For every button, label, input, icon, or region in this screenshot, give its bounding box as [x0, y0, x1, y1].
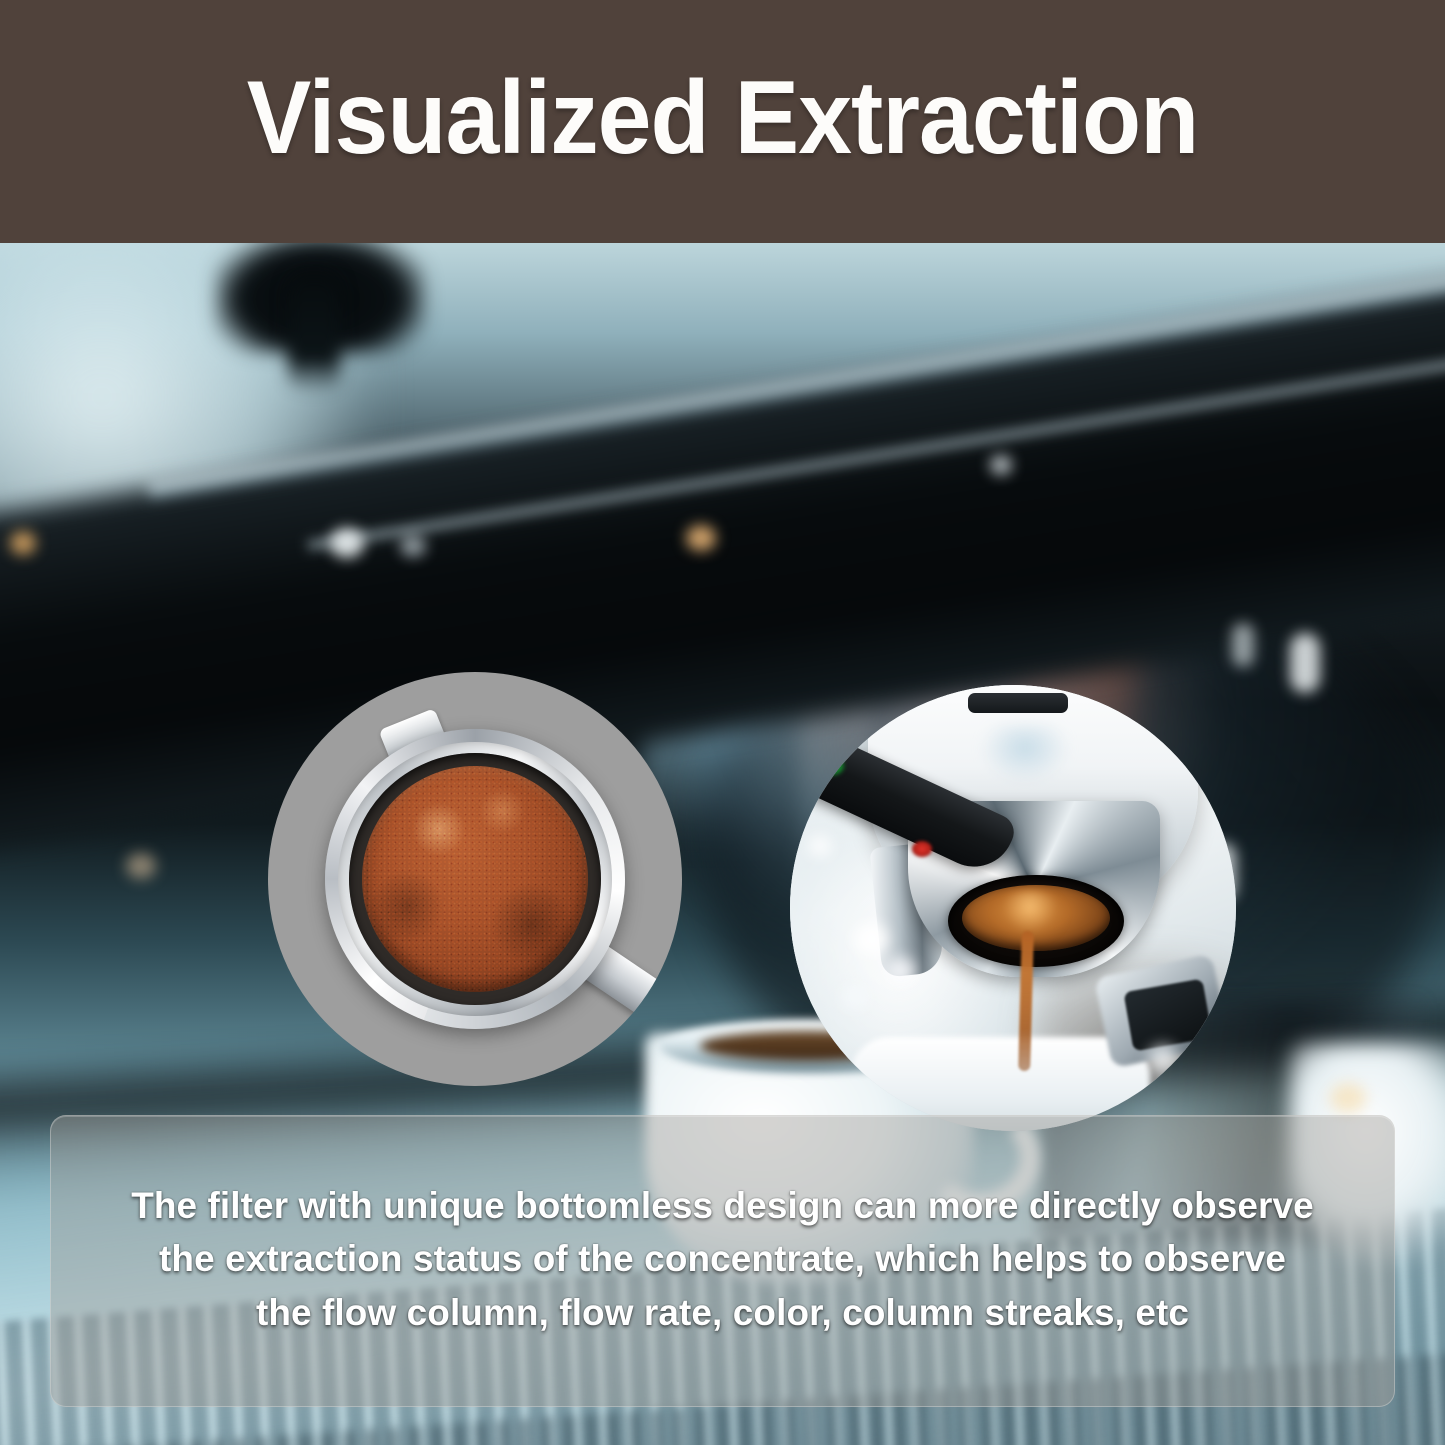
caption-line-3: the flow column, flow rate, color, colum…: [85, 1286, 1361, 1339]
caption-text: The filter with unique bottomless design…: [61, 1179, 1384, 1343]
caption-line-1: The filter with unique bottomless design…: [85, 1179, 1361, 1232]
caption-line-2: the extraction status of the concentrate…: [85, 1232, 1361, 1285]
caption-panel: The filter with unique bottomless design…: [50, 1115, 1395, 1407]
photo-bokeh-2: [400, 535, 426, 557]
product-infographic: Visualized Extraction The filter with un…: [0, 0, 1445, 1445]
wand-red-indicator: [912, 841, 932, 857]
page-title: Visualized Extraction: [51, 0, 1395, 243]
wand-green-indicator: [822, 757, 844, 775]
title-banner: Visualized Extraction: [0, 0, 1445, 243]
group-head-highlight: [980, 725, 1070, 783]
extraction-bokeh-4: [808, 835, 832, 857]
photo-bokeh-9: [990, 455, 1012, 475]
coffee-grounds-texture: [362, 766, 588, 992]
photo-bokeh-6: [1232, 623, 1254, 667]
espresso-extraction-photo: [790, 685, 1236, 1131]
photo-bokeh-5: [1290, 633, 1320, 693]
portafilter-grounds-photo: [268, 672, 682, 1086]
extraction-bokeh-5: [1148, 1045, 1178, 1073]
coffee-grounds-puck: [362, 766, 588, 992]
extraction-bokeh-3: [842, 985, 868, 1009]
photo-bokeh-3: [10, 531, 36, 555]
photo-bokeh-4: [686, 525, 716, 551]
photo-portafilter-stem: [288, 273, 340, 393]
group-head-slot: [968, 693, 1068, 713]
extraction-bokeh-1: [854, 923, 888, 955]
extraction-bokeh-2: [886, 957, 916, 985]
photo-bokeh-1: [330, 528, 364, 558]
photo-bokeh-8: [126, 853, 156, 879]
photo-bokeh-10: [1330, 1083, 1366, 1113]
